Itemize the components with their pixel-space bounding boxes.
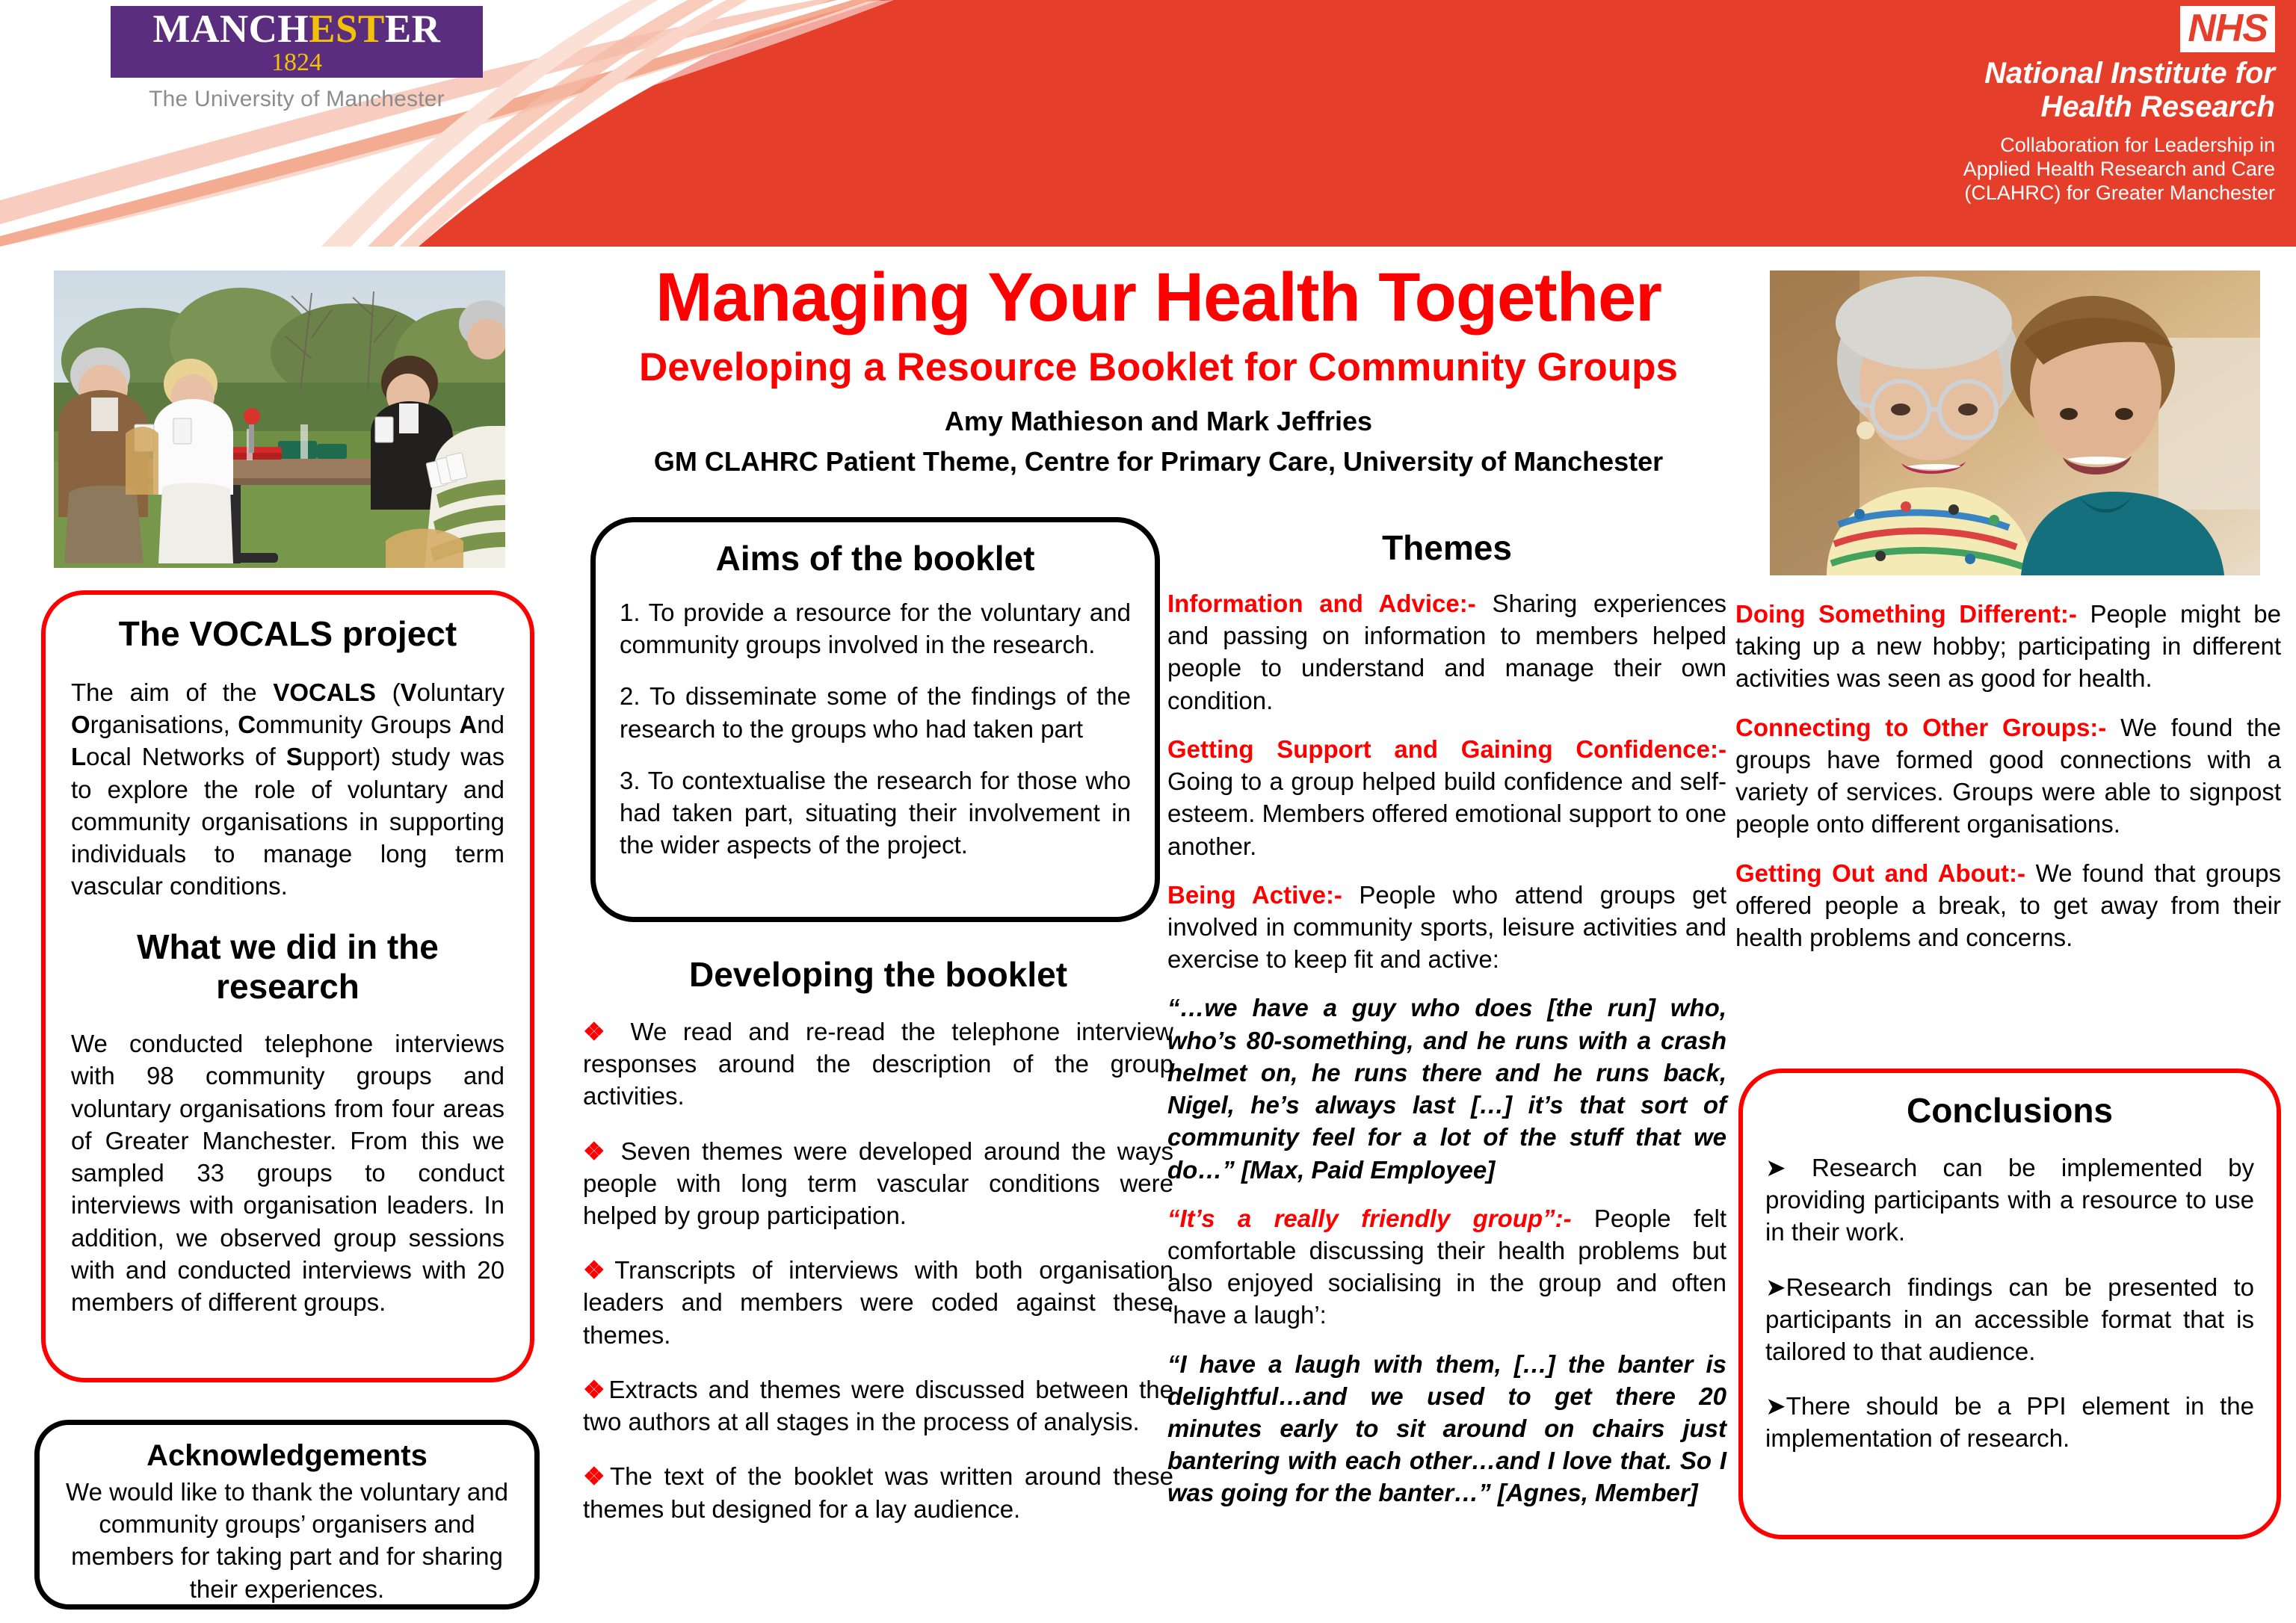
uom-logo-box: MANCHESTER 1824 xyxy=(111,6,483,78)
uom-word-mid: T xyxy=(358,7,385,51)
theme-lead-doing-something-different: Doing Something Different:- xyxy=(1735,600,2077,628)
conclusion-item-2: ➤Research findings can be presented to p… xyxy=(1765,1271,2254,1368)
themes-column-left: Information and Advice:- Sharing experie… xyxy=(1167,587,1726,1509)
conclusion-item-3-text: There should be a PPI element in the imp… xyxy=(1765,1392,2254,1452)
theme-doing-something-different: Doing Something Different:- People might… xyxy=(1735,598,2281,695)
title-block: Managing Your Health Together Developing… xyxy=(568,262,1749,477)
themes-heading: Themes xyxy=(1167,528,1726,568)
conclusion-item-1-text: Research can be implemented by providing… xyxy=(1765,1154,2254,1246)
vocals-o-rest: rganisations, xyxy=(90,711,238,738)
aims-item-2: 2. To disseminate some of the findings o… xyxy=(620,680,1131,744)
theme-lead-friendly-group: “It’s a really friendly group”:- xyxy=(1167,1205,1572,1232)
vocals-a: A xyxy=(459,711,477,738)
university-of-manchester-logo: MANCHESTER 1824 The University of Manche… xyxy=(111,6,514,112)
developing-item-3: ❖Transcripts of interviews with both org… xyxy=(583,1254,1173,1351)
nhs-badge: NHS xyxy=(2180,6,2275,52)
clahrc-line1: Collaboration for Leadership in xyxy=(1963,133,2275,157)
conclusions-heading: Conclusions xyxy=(1765,1091,2254,1131)
vocals-c: C xyxy=(238,711,256,738)
vocals-s: S xyxy=(286,743,303,770)
conclusion-item-1: ➤ Research can be implemented by providi… xyxy=(1765,1151,2254,1249)
acknowledgements-heading: Acknowledgements xyxy=(59,1438,515,1473)
diamond-bullet-icon-5: ❖ xyxy=(583,1462,610,1490)
vocals-l: L xyxy=(71,743,86,770)
vocals-body-pre: The aim of the xyxy=(71,678,273,706)
nihr-title: National Institute for Health Research xyxy=(1963,57,2275,124)
acknowledgements-body: We would like to thank the voluntary and… xyxy=(59,1476,515,1605)
theme-being-active: Being Active:- People who attend groups … xyxy=(1167,879,1726,976)
uom-year: 1824 xyxy=(271,50,322,75)
vocals-paren-open: ( xyxy=(376,678,401,706)
vocals-c-rest: ommunity Groups xyxy=(256,711,459,738)
arrow-bullet-icon-3: ➤ xyxy=(1765,1392,1786,1420)
diamond-bullet-icon-4: ❖ xyxy=(583,1376,608,1403)
diamond-bullet-icon-1: ❖ xyxy=(583,1018,614,1045)
themes-column-right: Doing Something Different:- People might… xyxy=(1735,598,2281,953)
diamond-bullet-icon-3: ❖ xyxy=(583,1256,614,1284)
vocals-v-rest: oluntary xyxy=(417,678,504,706)
uom-wordmark: MANCHESTER xyxy=(153,10,441,49)
quote-agnes-member: “I have a laugh with them, […] the bante… xyxy=(1167,1348,1726,1509)
diamond-bullet-icon-2: ❖ xyxy=(583,1137,609,1165)
developing-item-2: ❖ Seven themes were developed around the… xyxy=(583,1135,1173,1232)
clahrc-line3: (CLAHRC) for Greater Manchester xyxy=(1963,181,2275,205)
aims-heading: Aims of the booklet xyxy=(620,539,1131,578)
nihr-title-line1: National Institute for xyxy=(1963,57,2275,90)
theme-lead-getting-out-and-about: Getting Out and About:- xyxy=(1735,859,2025,887)
uom-word-suffix: ER xyxy=(385,7,441,51)
developing-item-5-text: The text of the booklet was written arou… xyxy=(583,1462,1173,1522)
vocals-s-rest: upport) xyxy=(303,743,381,770)
developing-item-1: ❖ We read and re-read the telephone inte… xyxy=(583,1015,1173,1113)
conclusion-item-2-text: Research findings can be presented to pa… xyxy=(1765,1273,2254,1365)
theme-lead-connecting-to-other-groups: Connecting to Other Groups:- xyxy=(1735,714,2106,741)
aims-item-3: 3. To contextualise the research for tho… xyxy=(620,764,1131,862)
conclusion-item-3: ➤There should be a PPI element in the im… xyxy=(1765,1390,2254,1454)
developing-item-1-text: We read and re-read the telephone interv… xyxy=(583,1018,1173,1110)
vocals-v: V xyxy=(401,678,417,706)
nihr-clahrc-logo: NHS National Institute for Health Resear… xyxy=(1963,6,2275,205)
quote-max-paid-employee: “…we have a guy who does [the run] who, … xyxy=(1167,992,1726,1185)
developing-heading: Developing the booklet xyxy=(583,955,1173,995)
theme-lead-getting-support: Getting Support and Gaining Confidence:- xyxy=(1167,735,1726,763)
theme-lead-being-active: Being Active:- xyxy=(1167,881,1342,909)
arrow-bullet-icon-1: ➤ xyxy=(1765,1154,1786,1181)
vocals-o: O xyxy=(71,711,90,738)
arrow-bullet-icon-2: ➤ xyxy=(1765,1273,1786,1301)
vocals-a-rest: nd xyxy=(477,711,504,738)
theme-text-getting-support: Going to a group helped build confidence… xyxy=(1167,767,1726,859)
developing-item-3-text: Transcripts of interviews with both orga… xyxy=(583,1256,1173,1348)
developing-item-5: ❖The text of the booklet was written aro… xyxy=(583,1460,1173,1524)
photo-card-players-graphic xyxy=(54,270,505,568)
photo-two-women xyxy=(1770,270,2260,575)
vocals-acronym: VOCALS xyxy=(273,678,376,706)
theme-information-and-advice: Information and Advice:- Sharing experie… xyxy=(1167,587,1726,717)
photo-card-players xyxy=(54,270,505,568)
developing-item-2-text: Seven themes were developed around the w… xyxy=(583,1137,1173,1229)
aims-item-1: 1. To provide a resource for the volunta… xyxy=(620,596,1131,661)
theme-getting-support: Getting Support and Gaining Confidence:-… xyxy=(1167,733,1726,862)
theme-connecting-to-other-groups: Connecting to Other Groups:- We found th… xyxy=(1735,711,2281,841)
clahrc-line2: Applied Health Research and Care xyxy=(1963,157,2275,181)
uom-subtitle: The University of Manchester xyxy=(111,87,483,112)
vocals-heading: The VOCALS project xyxy=(71,614,504,654)
vocals-l-rest: ocal Networks of xyxy=(86,743,286,770)
research-heading: What we did in the research xyxy=(71,927,504,1007)
poster-root: MANCHESTER 1824 The University of Manche… xyxy=(0,0,2296,1623)
authors: Amy Mathieson and Mark Jeffries xyxy=(568,406,1749,437)
page-title: Managing Your Health Together xyxy=(568,262,1749,334)
clahrc-subtitle: Collaboration for Leadership in Applied … xyxy=(1963,133,2275,205)
vocals-project-box: The VOCALS project The aim of the VOCALS… xyxy=(41,590,534,1382)
acknowledgements-box: Acknowledgements We would like to thank … xyxy=(34,1420,540,1610)
uom-word-prefix: MANCH xyxy=(153,7,309,51)
uom-word-lower: ES xyxy=(309,7,358,51)
page-subtitle: Developing a Resource Booklet for Commun… xyxy=(568,346,1749,389)
conclusions-box: Conclusions ➤ Research can be implemente… xyxy=(1738,1069,2281,1539)
aims-box: Aims of the booklet 1. To provide a reso… xyxy=(590,517,1160,922)
research-body: We conducted telephone interviews with 9… xyxy=(71,1027,504,1318)
theme-getting-out-and-about: Getting Out and About:- We found that gr… xyxy=(1735,857,2281,954)
theme-friendly-group: “It’s a really friendly group”:- People … xyxy=(1167,1202,1726,1332)
developing-item-4-text: Extracts and themes were discussed betwe… xyxy=(583,1376,1173,1435)
developing-booklet-section: Developing the booklet ❖ We read and re-… xyxy=(583,955,1173,1525)
affiliation: GM CLAHRC Patient Theme, Centre for Prim… xyxy=(568,446,1749,477)
theme-lead-information-and-advice: Information and Advice:- xyxy=(1167,590,1476,617)
developing-item-4: ❖Extracts and themes were discussed betw… xyxy=(583,1373,1173,1438)
photo-two-women-graphic xyxy=(1770,270,2260,575)
header-banner: MANCHESTER 1824 The University of Manche… xyxy=(0,0,2296,247)
vocals-body: The aim of the VOCALS (Voluntary Organis… xyxy=(71,676,504,903)
nihr-title-line2: Health Research xyxy=(1963,90,2275,124)
